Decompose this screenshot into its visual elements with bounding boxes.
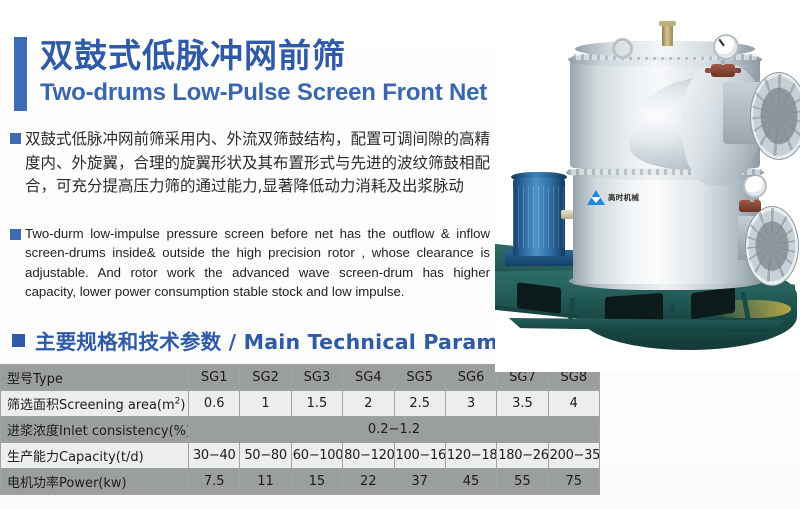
- product-photo: 高时机械: [495, 0, 800, 372]
- row-label-type: 型号Type: [1, 365, 189, 391]
- title-accent-bar: [14, 37, 27, 111]
- table-cell: 4: [548, 391, 599, 417]
- table-cell: SG2: [240, 365, 291, 391]
- vent-pipe-cap: [659, 21, 676, 26]
- table-cell: 120−180: [445, 443, 496, 469]
- machine-base-window: [517, 282, 561, 313]
- bullet-square-icon: [10, 229, 21, 240]
- upper-flange-bolts: [752, 74, 800, 156]
- page-title-block: 双鼓式低脉冲网前筛 Two-drums Low-Pulse Screen Fro…: [14, 36, 487, 111]
- table-cell: 2: [343, 391, 394, 417]
- row-label-inlet-consistency: 进浆浓度Inlet consistency(%): [1, 417, 189, 443]
- page-title-chinese: 双鼓式低脉冲网前筛: [40, 36, 487, 76]
- table-cell: 180−260: [497, 443, 548, 469]
- vent-pipe: [662, 24, 673, 46]
- table-cell: 45: [445, 469, 496, 495]
- section-heading-text: 主要规格和技术参数 / Main Technical Parameters: [35, 325, 559, 355]
- section-heading: 主要规格和技术参数 / Main Technical Parameters: [12, 325, 559, 355]
- table-cell: 7.5: [189, 469, 240, 495]
- description-paragraph-chinese: 双鼓式低脉冲网前筛采用内、外流双筛鼓结构，配置可调间隙的高精度内、外旋翼，合理的…: [10, 128, 490, 199]
- page-title-english: Two-drums Low-Pulse Screen Front Net: [40, 78, 487, 108]
- table-cell: SG4: [343, 365, 394, 391]
- table-cell: 0.6: [189, 391, 240, 417]
- row-label-tail: ): [180, 398, 185, 413]
- table-cell: 1: [240, 391, 291, 417]
- brand-logo-text: 高时机械: [608, 192, 639, 203]
- description-text-english: Two-durm low-impulse pressure screen bef…: [25, 224, 490, 302]
- lower-pressure-gauge-icon: [743, 174, 767, 198]
- table-cell: 200−350: [548, 443, 599, 469]
- table-cell: 3: [445, 391, 496, 417]
- table-cell: 30−40: [189, 443, 240, 469]
- row-label-screening-area: 筛选面积Screening area(m2): [1, 391, 189, 417]
- triangle-logo-icon: [587, 190, 605, 205]
- main-technical-parameters-table: 型号Type SG1 SG2 SG3 SG4 SG5 SG6 SG7 SG8 筛…: [0, 364, 600, 495]
- lower-flange-bolts: [747, 208, 795, 282]
- table-row: 生产能力Capacity(t/d) 30−40 50−80 60−100 80−…: [1, 443, 600, 469]
- table-cell: SG3: [291, 365, 342, 391]
- table-cell: 2.5: [394, 391, 445, 417]
- table-cell: 22: [343, 469, 394, 495]
- motor-cooling-fins: [513, 186, 565, 248]
- table-cell: 75: [548, 469, 599, 495]
- table-cell: 100−160: [394, 443, 445, 469]
- description-text-chinese: 双鼓式低脉冲网前筛采用内、外流双筛鼓结构，配置可调间隙的高精度内、外旋翼，合理的…: [25, 128, 490, 199]
- table-cell: SG1: [189, 365, 240, 391]
- description-paragraph-english: Two-durm low-impulse pressure screen bef…: [10, 224, 490, 302]
- row-label-capacity: 生产能力Capacity(t/d): [1, 443, 189, 469]
- brand-logo: 高时机械: [587, 190, 639, 205]
- table-cell: SG6: [445, 365, 496, 391]
- table-row: 筛选面积Screening area(m2) 0.6 1 1.5 2 2.5 3…: [1, 391, 600, 417]
- upper-pressure-gauge-icon: [713, 34, 739, 60]
- section-bullet-square-icon: [12, 334, 25, 347]
- table-cell: 1.5: [291, 391, 342, 417]
- table-cell: 15: [291, 469, 342, 495]
- table-cell: 11: [240, 469, 291, 495]
- row-label-text: 筛选面积Screening area(m: [7, 398, 175, 413]
- table-row: 进浆浓度Inlet consistency(%) 0.2−1.2: [1, 417, 600, 443]
- lifting-ring-icon: [612, 38, 633, 59]
- table-cell: 50−80: [240, 443, 291, 469]
- table-cell: SG5: [394, 365, 445, 391]
- table-cell: 3.5: [497, 391, 548, 417]
- brochure-page: 双鼓式低脉冲网前筛 Two-drums Low-Pulse Screen Fro…: [0, 0, 800, 509]
- table-cell: 55: [497, 469, 548, 495]
- upper-valve: [711, 64, 735, 77]
- row-label-power: 电机功率Power(kw): [1, 469, 189, 495]
- table-cell: 37: [394, 469, 445, 495]
- table-cell-merged: 0.2−1.2: [189, 417, 600, 443]
- table-row: 电机功率Power(kw) 7.5 11 15 22 37 45 55 75: [1, 469, 600, 495]
- bullet-square-icon: [10, 133, 21, 144]
- table-cell: 80−120: [343, 443, 394, 469]
- table-cell: 60−100: [291, 443, 342, 469]
